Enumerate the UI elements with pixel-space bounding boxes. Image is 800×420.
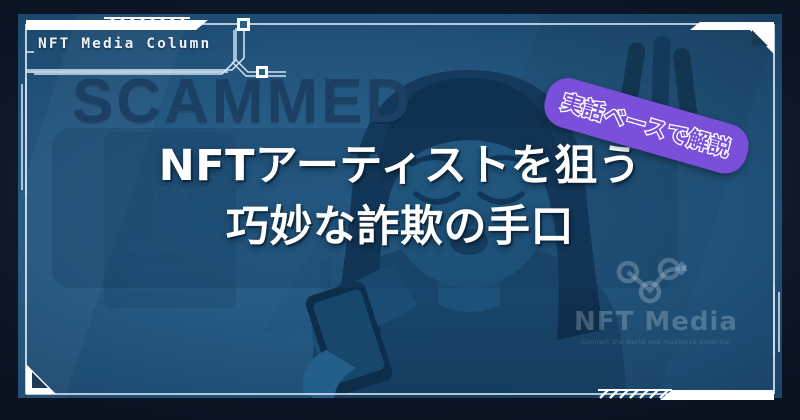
title-line-2: 巧妙な詐欺の手口: [0, 197, 800, 258]
logo-name: NFT Media: [572, 309, 740, 335]
background-word: SCAMMED: [72, 66, 413, 137]
banner-canvas: SCAMMED: [0, 0, 800, 420]
logo-watermark: NFT Media Connect the world and maximize…: [572, 256, 740, 346]
logo-tagline: Connect the world and maximize potential: [572, 339, 740, 346]
column-label: NFT Media Column: [38, 36, 211, 52]
network-nodes-icon: [612, 256, 700, 308]
